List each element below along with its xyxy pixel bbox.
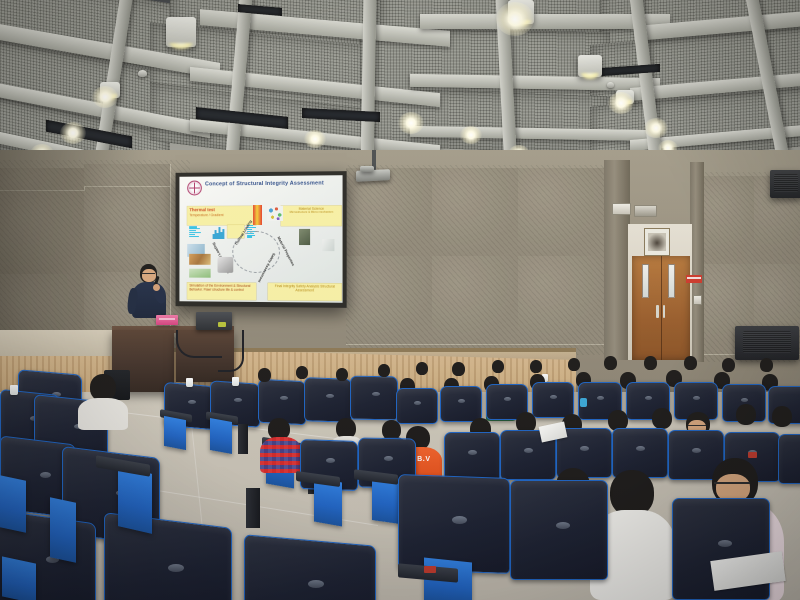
projection-screen: Concept of Structural Integrity Assessme… [176,171,347,308]
slide-box-material: Material Science Microstructure & Micro-… [281,206,341,226]
slide-bar-chart [213,226,224,239]
door-glass-panel [642,264,649,297]
ceiling-light-glow [304,130,326,148]
small-green-item [218,322,226,327]
wall-clock-display [634,205,657,217]
seat-side-panel [210,418,232,454]
ceiling-light-glow [398,112,424,134]
slide-box-bottom-left: Simulation of the Environment & Structur… [187,283,255,301]
wall-pillar [690,162,704,362]
seat-side-panel [50,497,76,563]
ceiling-light-glow [644,118,668,138]
seat-red-tag [424,566,436,573]
paper-cup [232,377,239,386]
ceiling-light-glow [60,122,86,144]
seat-red-tag [748,452,757,458]
sprinkler-icon [607,82,614,88]
slide-thermal-sub: Temperature / Gradient [189,213,253,217]
small-blue-object [580,398,587,407]
sprinkler-icon [138,70,147,77]
paper-cup [186,378,193,387]
seat-post [238,424,248,454]
ceiling-light-glow [460,126,482,144]
presenter-hand [153,284,160,291]
slide-specimen-bar [253,205,262,225]
power-cable [176,330,222,358]
eyeglasses-icon [688,425,706,429]
slide-micrograph-collage [267,206,283,221]
paper-cup [10,385,18,395]
door-handle[interactable] [656,305,658,318]
slide-photo-graph-right [323,239,335,251]
power-cable [218,330,244,372]
slide-photo-green [189,269,210,278]
slide-photo-component [299,229,310,245]
slide-bottom-right-text: Final Integrity Safety Analysis Structur… [270,284,339,293]
ceiling-downlight [578,55,602,77]
projector-lens [360,166,374,172]
slide-title: Concept of Structural Integrity Assessme… [205,180,339,188]
pink-box-item [156,315,178,325]
slide-material-sub: Microstructure & Micro-mechanism [283,211,339,215]
laptop[interactable] [196,312,232,330]
wall-pillar [604,160,630,360]
slide-bottom-left-text: Simulation of the Environment & Structur… [189,284,253,293]
slide-photo-specimen [189,254,210,265]
wall-loudspeaker [770,170,800,198]
seat-side-panel [0,475,26,533]
slide-content: Concept of Structural Integrity Assessme… [179,175,342,303]
eyeglasses-icon [714,482,750,489]
av-equipment-cabinet [735,326,799,360]
seat-side-panel [2,556,36,600]
ceiling-light-glow [496,2,534,36]
seat-post [246,488,260,528]
ceiling-light-glow [92,86,118,108]
exit-sign [612,203,631,215]
lecture-hall-photo: Concept of Structural Integrity Assessme… [0,0,800,600]
stage-floor-strip [0,330,120,356]
slide-photo-fracture [218,257,234,273]
presenter-glasses-icon [142,273,155,276]
exit-door[interactable] [632,256,690,360]
seat-side-panel [164,416,186,450]
slide-box-bottom-right: Final Integrity Safety Analysis Structur… [268,283,341,301]
wall-switch-panel[interactable] [693,295,702,305]
university-crest-icon [187,181,202,196]
framed-picture [644,228,670,256]
door-handle[interactable] [663,305,665,318]
slide-box-thermal: Thermal test Temperature / Gradient [187,206,255,225]
slide-cyan-chart [189,227,201,238]
plaid-shirt [260,437,302,473]
door-glass-panel [668,264,675,297]
ceiling-downlight [166,17,196,47]
ceiling-light-glow [608,92,634,114]
fire-notice-sign [686,275,702,283]
